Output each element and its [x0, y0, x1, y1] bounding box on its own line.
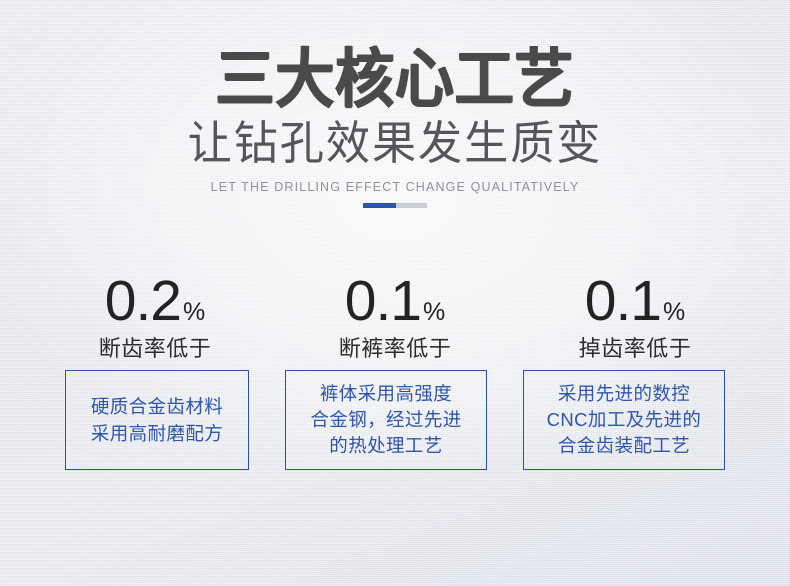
stat-value-2: 0.1 %	[275, 272, 515, 330]
stat-number-2: 0.1	[345, 272, 421, 330]
stat-label-1: 断齿率低于	[35, 336, 275, 362]
stat-percent-sign-2: %	[423, 297, 445, 327]
stat-percent-sign-1: %	[183, 297, 205, 327]
feature-box-1: 硬质合金齿材料 采用高耐磨配方	[65, 370, 249, 470]
header-block: 三大核心工艺 让钻孔效果发生质变 LET THE DRILLING EFFECT…	[0, 0, 790, 195]
feature-box-1-line-2: 采用高耐磨配方	[91, 420, 223, 447]
promo-banner: 三大核心工艺 让钻孔效果发生质变 LET THE DRILLING EFFECT…	[0, 0, 790, 586]
stat-value-1: 0.2 %	[35, 272, 275, 330]
stats-row: 0.2 % 断齿率低于 0.1 % 断裤率低于 0.1 % 掉齿率低于	[0, 272, 790, 362]
page-subtitle: 让钻孔效果发生质变	[16, 112, 774, 168]
stat-column-3: 0.1 % 掉齿率低于	[515, 272, 755, 362]
divider-segment-grey	[396, 203, 427, 208]
stat-column-1: 0.2 % 断齿率低于	[35, 272, 275, 362]
feature-box-3: 采用先进的数控 CNC加工及先进的 合金齿装配工艺	[523, 370, 725, 470]
feature-box-3-line-1: 采用先进的数控	[558, 381, 690, 407]
stat-label-2: 断裤率低于	[275, 336, 515, 362]
feature-box-3-line-2: CNC加工及先进的	[547, 407, 702, 433]
stat-label-3: 掉齿率低于	[515, 336, 755, 362]
stat-number-1: 0.2	[105, 272, 181, 330]
feature-box-2: 裤体采用高强度 合金钢，经过先进 的热处理工艺	[285, 370, 487, 470]
divider	[0, 203, 790, 208]
feature-box-2-line-3: 的热处理工艺	[329, 433, 442, 459]
feature-box-2-line-1: 裤体采用高强度	[320, 381, 452, 407]
stat-column-2: 0.1 % 断裤率低于	[275, 272, 515, 362]
page-title: 三大核心工艺	[32, 0, 759, 112]
feature-box-2-line-2: 合金钢，经过先进	[310, 407, 461, 433]
page-subtitle-english: LET THE DRILLING EFFECT CHANGE QUALITATI…	[0, 168, 790, 195]
stat-number-3: 0.1	[585, 272, 661, 330]
divider-segment-blue	[363, 203, 396, 208]
stat-percent-sign-3: %	[663, 297, 685, 327]
feature-boxes-row: 硬质合金齿材料 采用高耐磨配方 裤体采用高强度 合金钢，经过先进 的热处理工艺 …	[0, 370, 790, 470]
stat-value-3: 0.1 %	[515, 272, 755, 330]
feature-box-3-line-3: 合金齿装配工艺	[558, 433, 690, 459]
feature-box-1-line-1: 硬质合金齿材料	[91, 393, 223, 420]
